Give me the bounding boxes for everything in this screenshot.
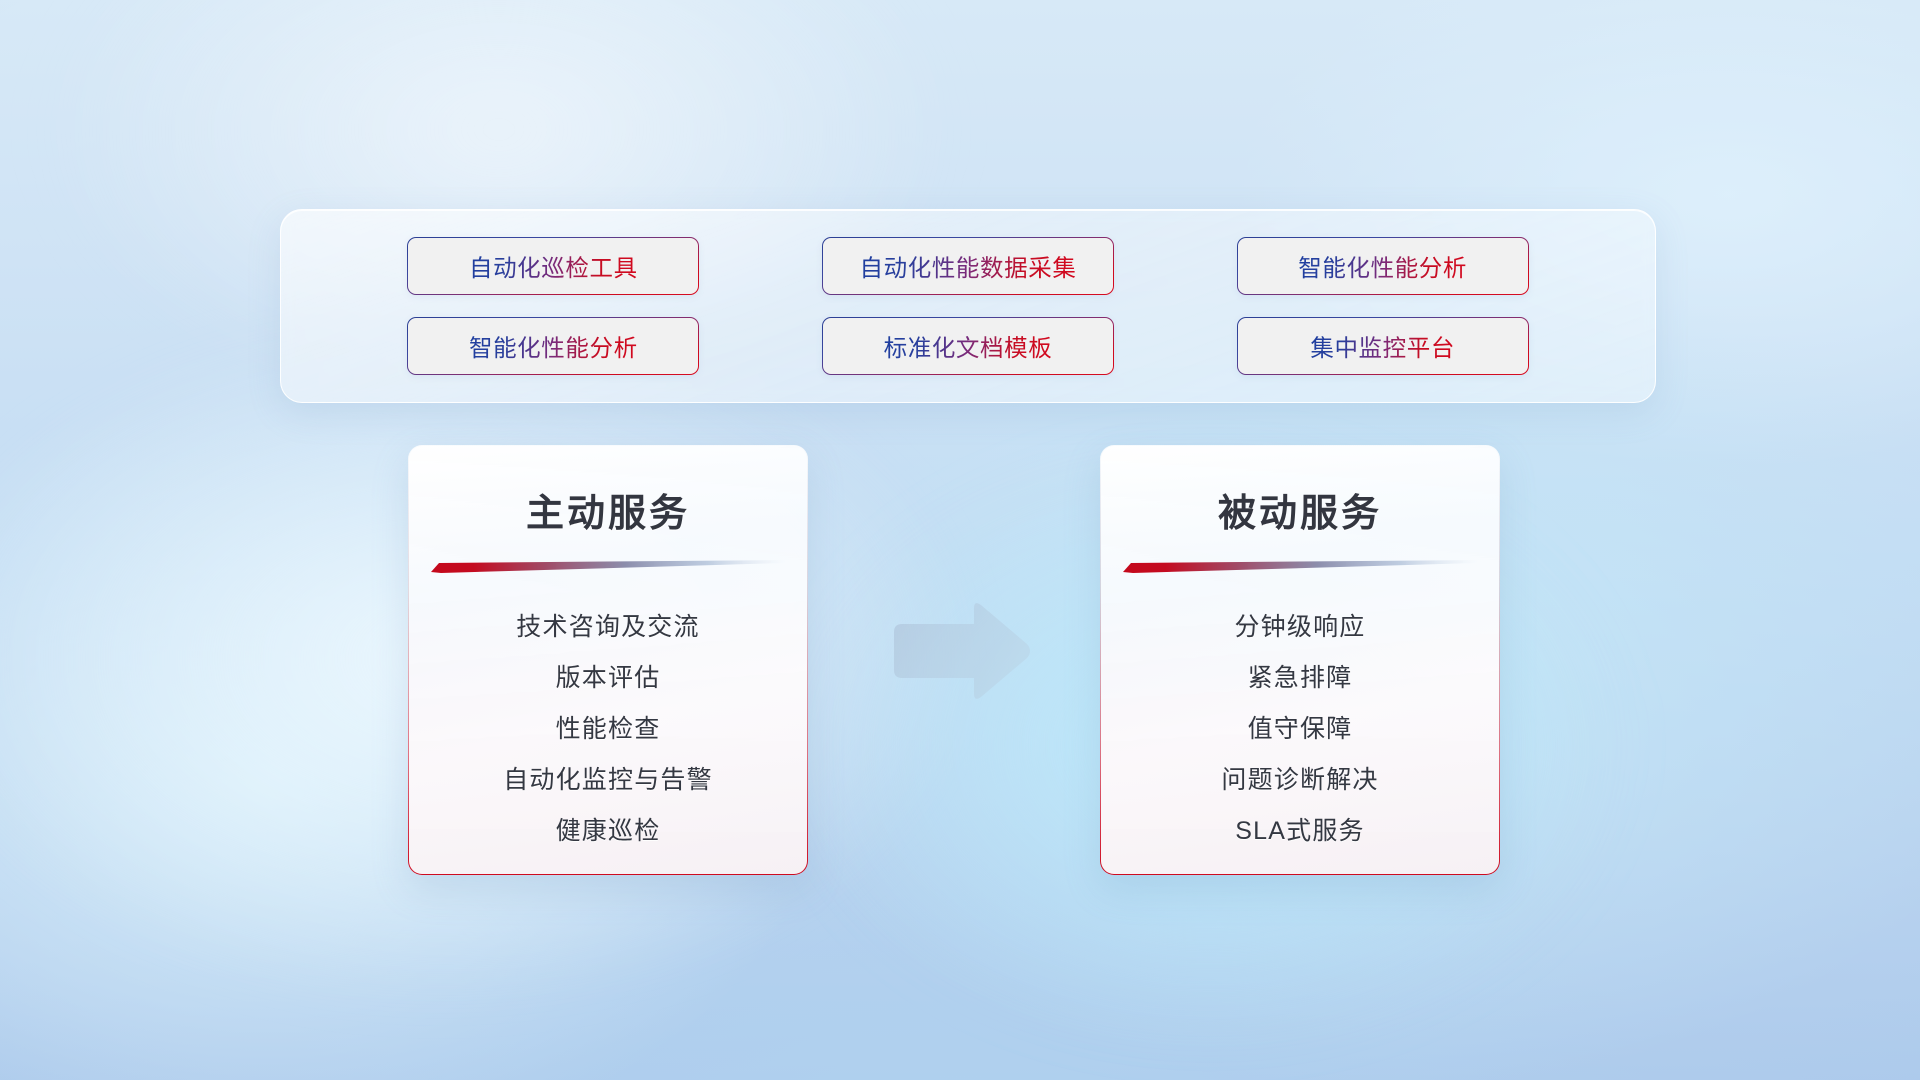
service-card-title: 主动服务 bbox=[526, 482, 690, 537]
diagram-stage: 自动化巡检工具 自动化性能数据采集 智能化性能分析 智能化性能分析 标准化文档模… bbox=[176, 99, 1744, 981]
list-item: 自动化监控与告警 bbox=[503, 760, 713, 796]
list-item: 技术咨询及交流 bbox=[516, 607, 699, 643]
service-card-item-list: 技术咨询及交流 版本评估 性能检查 自动化监控与告警 健康巡检 bbox=[431, 600, 785, 854]
list-item: SLA式服务 bbox=[1235, 811, 1364, 847]
arrow-right-icon bbox=[888, 599, 1034, 703]
capability-pill-label: 集中监控平台 bbox=[1310, 329, 1455, 363]
capability-pill-automated-inspection-tool[interactable]: 自动化巡检工具 bbox=[407, 237, 699, 295]
service-card-proactive[interactable]: 主动服务 技术咨询及交流 版本评估 性能检查 bbox=[408, 445, 808, 875]
list-item: 问题诊断解决 bbox=[1221, 760, 1378, 796]
service-card-item-list: 分钟级响应 紧急排障 值守保障 问题诊断解决 SLA式服务 bbox=[1123, 600, 1477, 854]
capability-pill-standardized-document-template[interactable]: 标准化文档模板 bbox=[822, 317, 1114, 375]
capability-pill-intelligent-performance-analysis-1[interactable]: 智能化性能分析 bbox=[1237, 237, 1529, 295]
list-item: 值守保障 bbox=[1248, 709, 1353, 745]
capability-pill-label: 标准化文档模板 bbox=[884, 329, 1053, 363]
capability-pill-label: 自动化巡检工具 bbox=[469, 249, 638, 283]
service-card-title: 被动服务 bbox=[1218, 482, 1382, 537]
capability-pill-label: 智能化性能分析 bbox=[469, 329, 638, 363]
list-item: 分钟级响应 bbox=[1234, 607, 1365, 643]
capability-pill-label: 智能化性能分析 bbox=[1298, 249, 1467, 283]
capability-pill-intelligent-performance-analysis-2[interactable]: 智能化性能分析 bbox=[407, 317, 699, 375]
list-item: 版本评估 bbox=[556, 658, 661, 694]
card-divider-gradient-bar bbox=[1123, 559, 1477, 574]
capabilities-panel: 自动化巡检工具 自动化性能数据采集 智能化性能分析 智能化性能分析 标准化文档模… bbox=[280, 209, 1656, 403]
capability-pill-centralized-monitoring-platform[interactable]: 集中监控平台 bbox=[1237, 317, 1529, 375]
list-item: 健康巡检 bbox=[556, 811, 661, 847]
list-item: 紧急排障 bbox=[1248, 658, 1353, 694]
capability-pill-label: 自动化性能数据采集 bbox=[860, 249, 1077, 283]
service-card-reactive[interactable]: 被动服务 分钟级响应 紧急排障 值守保障 bbox=[1100, 445, 1500, 875]
capability-pill-automated-performance-data-collection[interactable]: 自动化性能数据采集 bbox=[822, 237, 1114, 295]
card-divider-gradient-bar bbox=[431, 559, 785, 574]
list-item: 性能检查 bbox=[556, 709, 661, 745]
